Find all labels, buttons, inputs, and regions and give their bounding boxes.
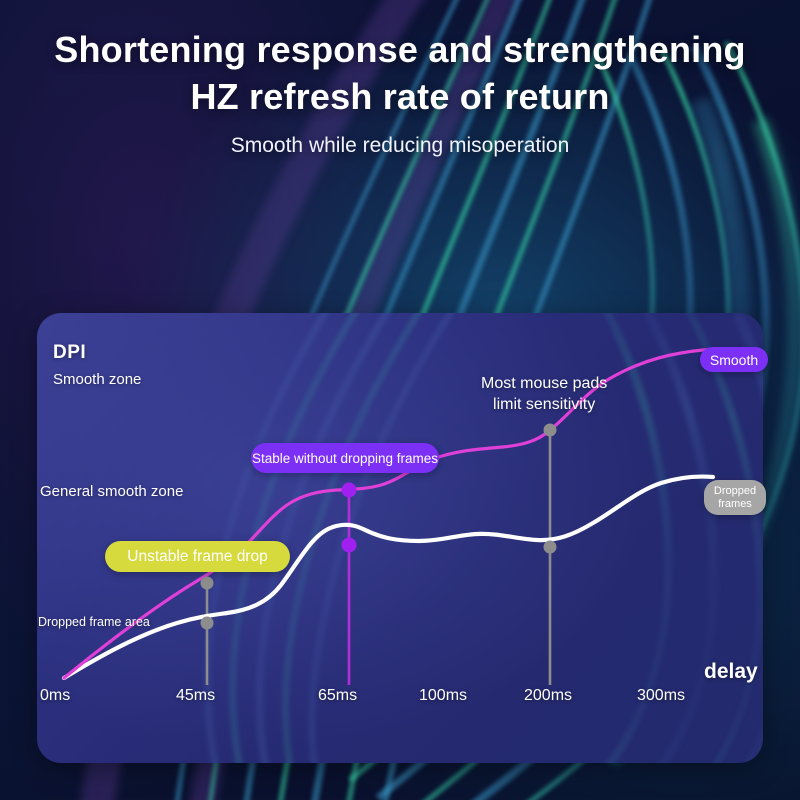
pill-unstable-frame-drop[interactable]: Unstable frame drop [105,541,290,572]
x-tick-100ms: 100ms [419,687,467,705]
annotation-mouse-pads: Most mouse pads limit sensitivity [481,373,607,415]
x-tick-300ms: 300ms [637,687,685,705]
legend-pill-dropped-label-1: Dropped [714,485,756,498]
x-tick-200ms: 200ms [524,687,572,705]
pill-stable-label: Stable without dropping frames [252,451,438,466]
x-axis-title: delay [704,660,758,684]
marker-65ms-dropped [342,538,357,553]
marker-200ms-dropped [544,541,557,554]
y-axis-title: DPI [53,342,86,364]
annotation-mouse-pads-line-2: limit sensitivity [481,394,607,415]
pill-stable-without-dropping-frames[interactable]: Stable without dropping frames [251,443,439,473]
headline-block: Shortening response and strengthening HZ… [0,26,800,159]
zone-label-smooth: Smooth zone [53,371,141,388]
x-tick-45ms: 45ms [176,687,215,705]
page-subtitle: Smooth while reducing misoperation [0,133,800,159]
marker-45ms-smooth [201,577,214,590]
pill-unstable-label: Unstable frame drop [127,548,267,566]
legend-pill-dropped-label-2: frames [718,498,752,511]
x-tick-65ms: 65ms [318,687,357,705]
marker-65ms-smooth [342,483,357,498]
marker-200ms-smooth [544,424,557,437]
legend-pill-smooth[interactable]: Smooth [700,347,768,372]
series-dropped-frames-line [64,477,713,678]
x-tick-0ms: 0ms [40,687,70,705]
legend-pill-smooth-label: Smooth [710,352,758,368]
annotation-mouse-pads-line-1: Most mouse pads [481,373,607,394]
legend-pill-dropped-frames[interactable]: Dropped frames [704,480,766,515]
promo-banner: Shortening response and strengthening HZ… [0,0,800,800]
zone-label-dropped: Dropped frame area [38,615,150,629]
page-title-line-1: Shortening response and strengthening [0,26,800,73]
marker-45ms-dropped [201,617,214,630]
zone-label-general: General smooth zone [40,483,183,500]
page-title-line-2: HZ refresh rate of return [0,73,800,120]
